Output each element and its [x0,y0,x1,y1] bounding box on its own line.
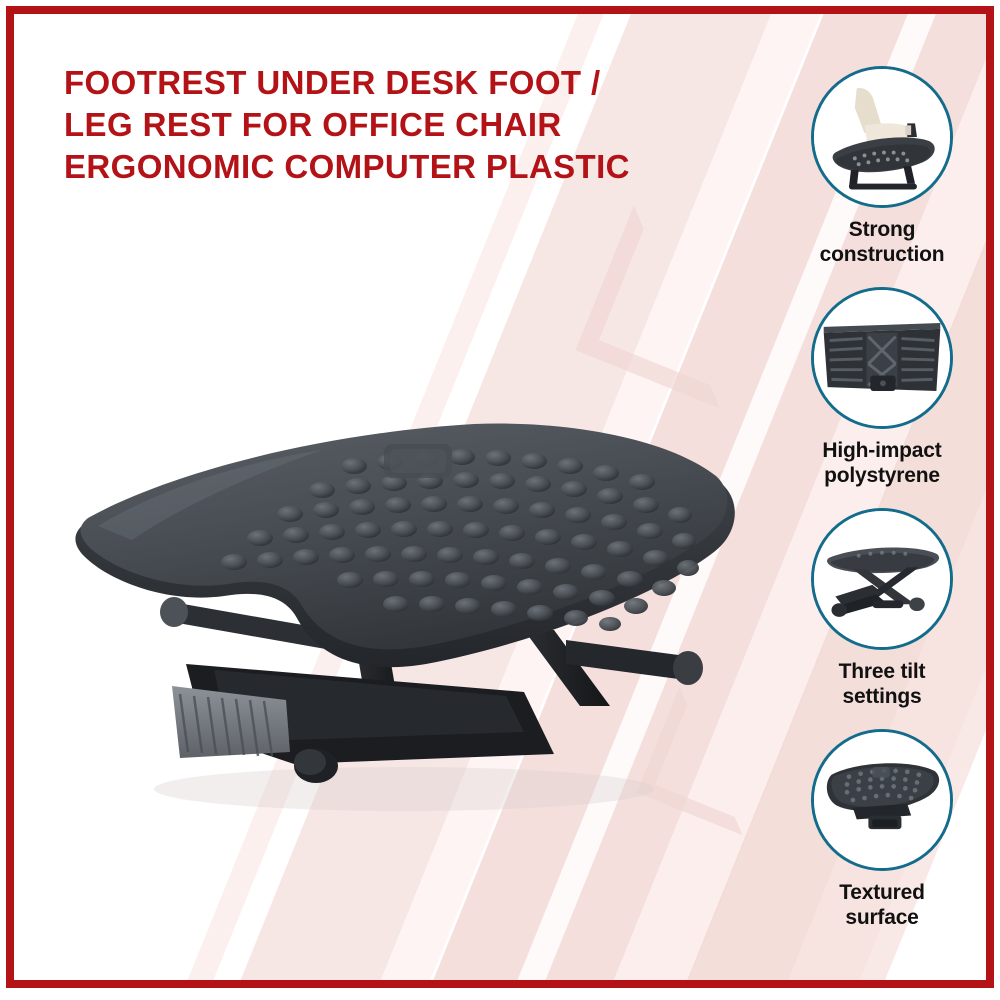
footrest-with-shoe-icon [811,66,953,208]
feature-label-line-1: Textured [839,880,925,905]
product-poster: FOOTREST UNDER DESK FOOT / LEG REST FOR … [0,0,1000,1000]
feature-callout: Textured surface [784,729,980,930]
feature-callout: Three tilt settings [784,508,980,709]
feature-label-line-2: surface [839,905,925,930]
feature-label: Strong construction [820,217,945,267]
feature-label: Textured surface [839,880,925,930]
feature-callout: High-impact polystyrene [784,287,980,488]
feature-label-line-2: settings [839,684,926,709]
feature-label-line-2: polystyrene [822,463,941,488]
footrest-tilt-mechanism-icon [811,508,953,650]
feature-label: High-impact polystyrene [822,438,941,488]
feature-label-line-1: High-impact [822,438,941,463]
feature-callout-rail: Strong construction [784,66,980,944]
footrest-textured-top-icon [811,729,953,871]
feature-callout: Strong construction [784,66,980,267]
feature-label: Three tilt settings [839,659,926,709]
product-title-line-3: ERGONOMIC COMPUTER PLASTIC [64,146,724,188]
product-title: FOOTREST UNDER DESK FOOT / LEG REST FOR … [64,62,724,188]
feature-label-line-2: construction [820,242,945,267]
footrest-underside-ribs-icon [811,287,953,429]
red-border-frame: FOOTREST UNDER DESK FOOT / LEG REST FOR … [6,6,994,988]
feature-label-line-1: Three tilt [839,659,926,684]
product-title-line-2: LEG REST FOR OFFICE CHAIR [64,104,724,146]
product-title-line-1: FOOTREST UNDER DESK FOOT / [64,62,724,104]
hero-product-image [54,334,754,834]
feature-label-line-1: Strong [820,217,945,242]
